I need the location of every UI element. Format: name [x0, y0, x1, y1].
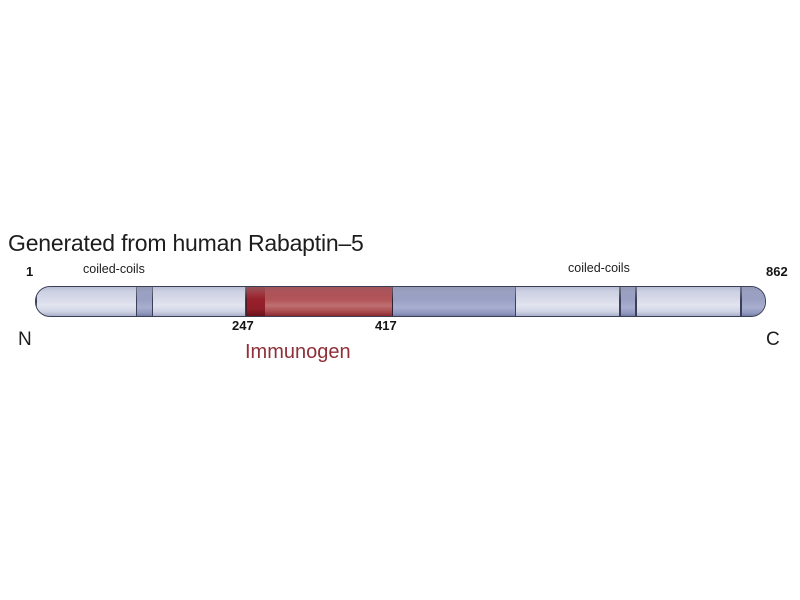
segment-divider-c-terminal [741, 287, 742, 316]
domain-segment-linker-3 [620, 287, 636, 316]
domain-segment-coiled-coil-3 [515, 287, 620, 316]
terminus-label-n: N [18, 329, 32, 350]
domain-segment-coiled-coil-4 [636, 287, 741, 316]
domain-segment-immunogen-body [265, 287, 393, 316]
position-label-immunogen-start: 247 [232, 318, 254, 333]
protein-backbone-bar [35, 286, 766, 317]
domain-segment-c-terminal-cap [741, 287, 766, 316]
position-label-immunogen-end: 417 [375, 318, 397, 333]
position-label-start: 1 [26, 264, 33, 279]
protein-domain-diagram: Generated from human Rabaptin–5 coiled-c… [0, 0, 800, 600]
position-label-end: 862 [766, 264, 788, 279]
domain-segment-immunogen-core [246, 287, 265, 316]
domain-label-coiled-coils-right: coiled-coils [568, 261, 630, 275]
terminus-label-c: C [766, 329, 780, 350]
domain-segment-coiled-coil-1 [36, 287, 137, 316]
domain-label-coiled-coils-left: coiled-coils [83, 262, 145, 276]
immunogen-label: Immunogen [245, 341, 351, 364]
domain-segment-linker-2 [393, 287, 515, 316]
domain-segment-coiled-coil-2 [152, 287, 246, 316]
page-title: Generated from human Rabaptin–5 [8, 229, 364, 257]
domain-segment-linker-1 [137, 287, 152, 316]
